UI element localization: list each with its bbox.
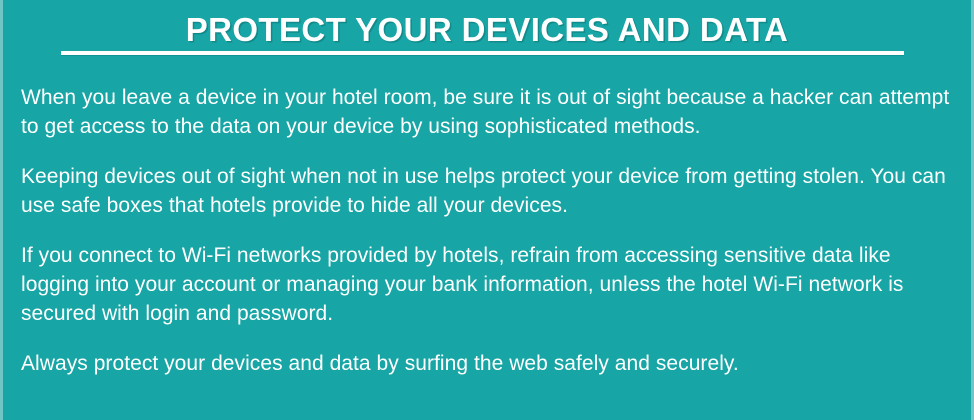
paragraph-2: Keeping devices out of sight when not in…	[21, 162, 961, 220]
title-underline-rule	[61, 51, 904, 55]
paragraph-4: Always protect your devices and data by …	[21, 349, 961, 378]
title-block: PROTECT YOUR DEVICES AND DATA	[3, 0, 971, 46]
paragraph-3: If you connect to Wi-Fi networks provide…	[21, 241, 961, 328]
slide-container: PROTECT YOUR DEVICES AND DATA When you l…	[0, 0, 974, 420]
page-title: PROTECT YOUR DEVICES AND DATA	[3, 0, 971, 46]
paragraph-1: When you leave a device in your hotel ro…	[21, 83, 961, 141]
body-copy: When you leave a device in your hotel ro…	[21, 83, 961, 378]
